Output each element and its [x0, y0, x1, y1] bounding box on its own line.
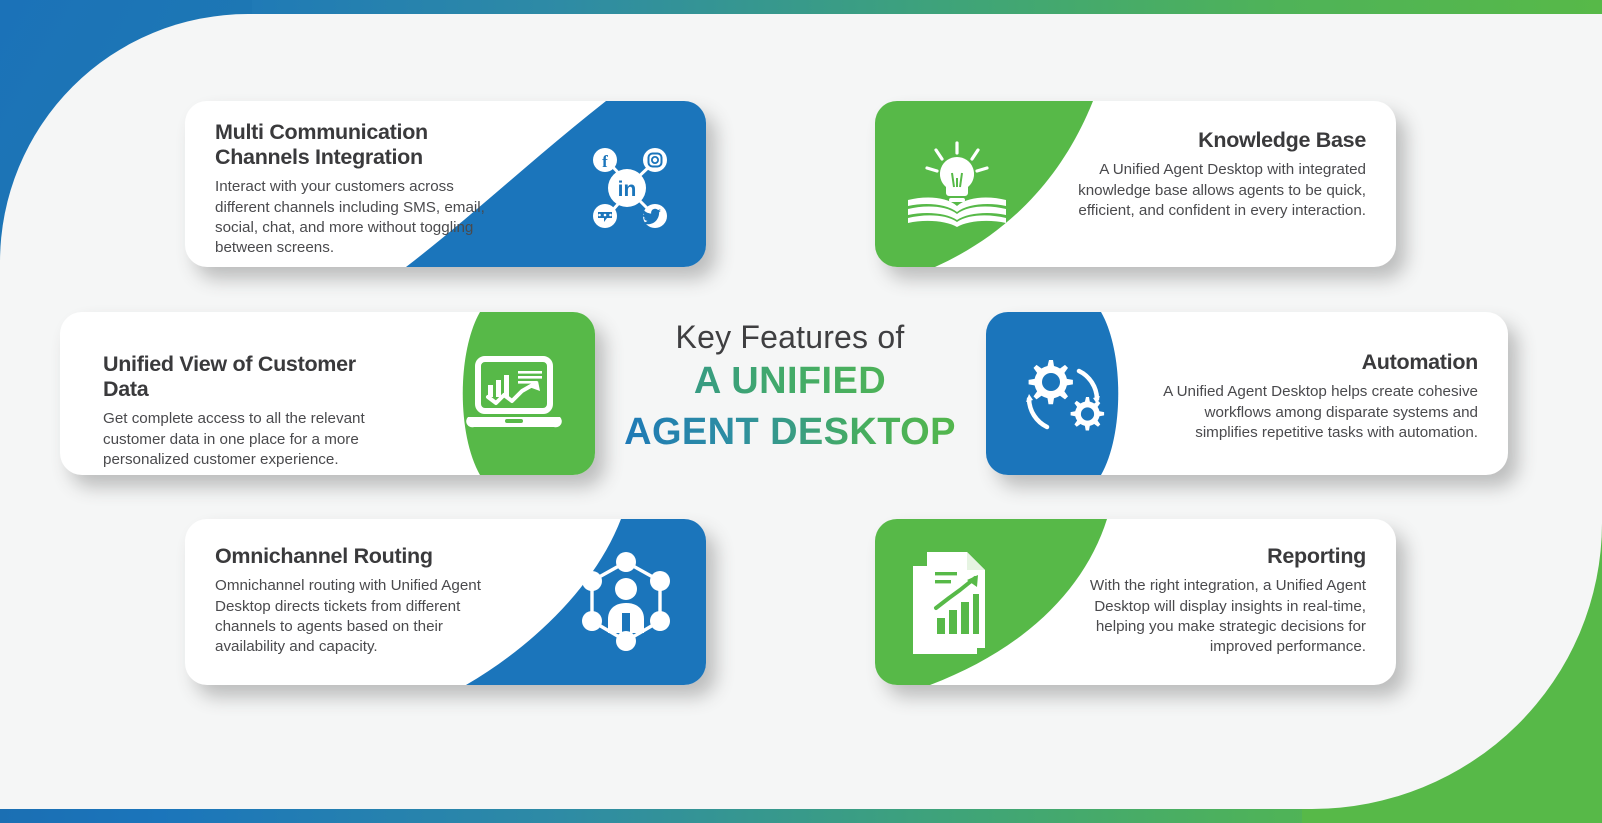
feature-card-omnichannel-routing[interactable]: Omnichannel Routing Omnichannel routing … [185, 519, 706, 685]
card-title: Unified View of Customer Data [103, 352, 403, 402]
social-network-icon: in f [572, 134, 682, 234]
feature-card-knowledge-base[interactable]: Knowledge Base A Unified Agent Desktop w… [875, 101, 1396, 267]
card-text-block: Multi Communication Channels Integration… [215, 120, 505, 259]
card-title: Knowledge Base [1066, 128, 1366, 153]
page-title: Key Features of A UNIFIED AGENT DESKTOP [600, 318, 980, 457]
card-body: Interact with your customers across diff… [215, 177, 505, 258]
card-text-block: Reporting With the right integration, a … [1066, 544, 1366, 658]
feature-card-multi-communication-channels-integration[interactable]: in f Multi Communication Channels Inte [185, 101, 706, 267]
hexagon-network-person-icon [570, 547, 682, 657]
card-title: Omnichannel Routing [215, 544, 515, 569]
svg-text:f: f [602, 152, 608, 171]
card-text-block: Omnichannel Routing Omnichannel routing … [215, 544, 515, 658]
card-text-block: Unified View of Customer Data Get comple… [103, 352, 403, 470]
card-title: Automation [1138, 350, 1478, 375]
lightbulb-book-icon [897, 139, 1017, 231]
card-body: Omnichannel routing with Unified Agent D… [215, 576, 515, 657]
infographic-canvas: Key Features of A UNIFIED AGENT DESKTOP [0, 0, 1602, 823]
title-line-1: Key Features of [600, 318, 980, 356]
title-line-3: AGENT DESKTOP [600, 407, 980, 458]
feature-card-unified-view-of-customer-data[interactable]: Unified View of Customer Data Get comple… [60, 312, 595, 475]
title-line-2: A UNIFIED [600, 356, 980, 407]
card-title: Reporting [1066, 544, 1366, 569]
feature-card-reporting[interactable]: Reporting With the right integration, a … [875, 519, 1396, 685]
card-text-block: Automation A Unified Agent Desktop helps… [1138, 350, 1478, 443]
card-body: With the right integration, a Unified Ag… [1066, 576, 1366, 657]
card-body: A Unified Agent Desktop with integrated … [1066, 160, 1366, 221]
report-document-chart-icon [903, 544, 1003, 659]
laptop-chart-icon [458, 354, 570, 436]
feature-card-automation[interactable]: Automation A Unified Agent Desktop helps… [986, 312, 1508, 475]
card-title: Multi Communication Channels Integration [215, 120, 505, 170]
gears-refresh-icon [1004, 350, 1116, 440]
svg-text:in: in [618, 178, 637, 201]
card-body: Get complete access to all the relevant … [103, 409, 403, 470]
card-body: A Unified Agent Desktop helps create coh… [1138, 382, 1478, 443]
card-text-block: Knowledge Base A Unified Agent Desktop w… [1066, 128, 1366, 221]
